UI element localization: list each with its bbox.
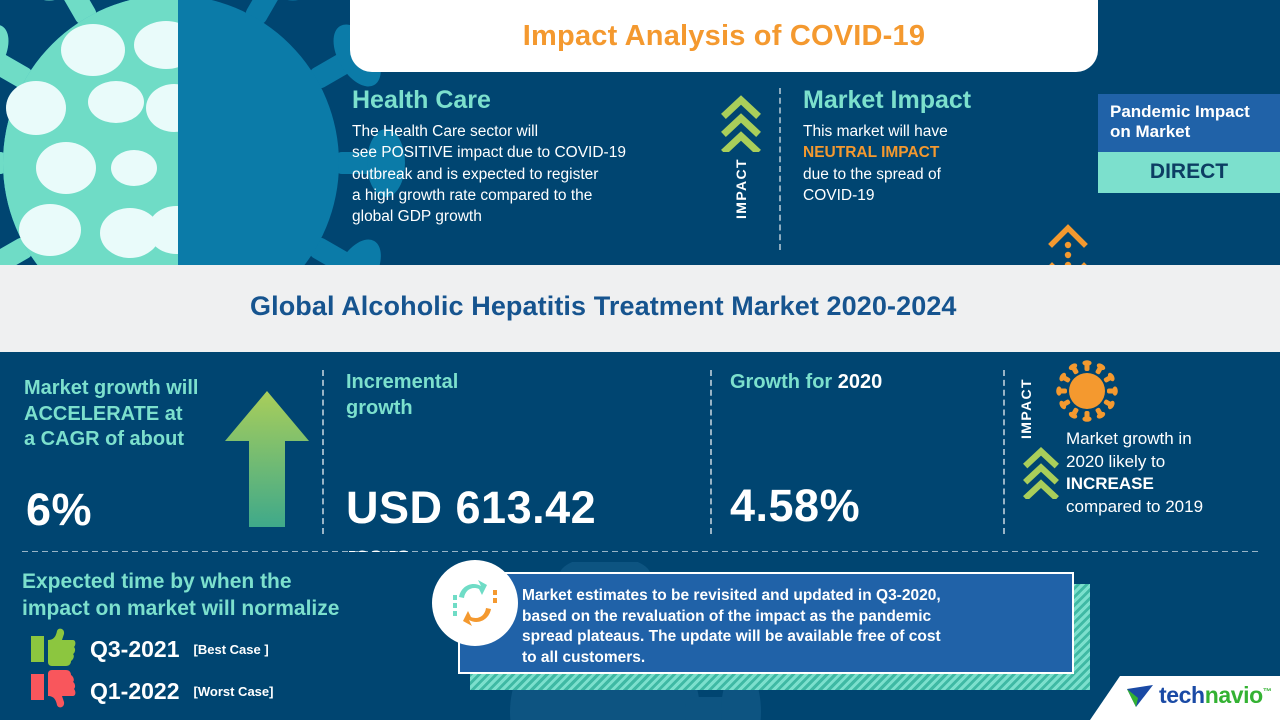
stats-divider-3 [1003,370,1005,534]
logo-content: technavio™ [1126,682,1271,709]
impact-label-top: IMPACT [733,158,749,219]
growth-2020-label-prefix: Growth for [730,371,838,393]
market-impact-body: This market will have NEUTRAL IMPACT due… [803,121,1028,207]
growth-2020-cell: Growth for 2020 4.58% [730,370,1000,396]
impact-rail-top: IMPACT [718,94,764,219]
pandemic-impact-title-line1: Pandemic Impact [1110,102,1270,122]
growth-2020-label-year: 2020 [838,371,883,393]
worst-case-tag: [Worst Case] [194,684,274,699]
note-box: Market estimates to be revisited and upd… [458,572,1074,674]
mi-line-3: due to the spread of [803,164,1028,185]
cagr-label-line2: ACCELERATE at [24,402,254,428]
hc-line-4: a high growth rate compared to the [352,185,704,206]
infographic-root: Impact Analysis of COVID-19 Health Care … [0,0,1280,720]
mi-accent: NEUTRAL IMPACT [803,142,1028,163]
technavio-mark-icon [1126,683,1154,709]
impact-2020-line1: Market growth in [1066,428,1280,451]
impact-2020-line2: 2020 likely to [1066,451,1280,474]
best-case-tag: [Best Case ] [194,642,269,657]
pandemic-impact-title-line2: on Market [1110,122,1270,142]
mi-line-1: This market will have [803,121,1028,142]
best-case-quarter: Q3-2021 [90,636,180,663]
inc-label-line2: growth [346,396,646,422]
normalize-heading: Expected time by when the impact on mark… [22,568,422,623]
market-impact-block: Market Impact This market will have NEUT… [803,86,1028,206]
cagr-cell: Market growth will ACCELERATE at a CAGR … [24,376,254,453]
market-impact-heading: Market Impact [803,86,1028,115]
growth-2020-value: 4.58% [730,480,860,532]
hc-line-1: The Health Care sector will [352,121,704,142]
virus-orange-icon [1056,360,1118,427]
impact-2020-text: Market growth in 2020 likely to INCREASE… [1066,428,1280,518]
logo-text-b: navio [1205,682,1263,708]
pandemic-impact-value: DIRECT [1098,152,1280,193]
incremental-growth-cell: Incremental growth USD 613.42 mn [346,370,646,421]
page-title: Impact Analysis of COVID-19 [523,20,925,53]
note-line-1: Market estimates to be revisited and upd… [522,586,1060,607]
normalize-heading-line1: Expected time by when the [22,568,422,595]
incremental-growth-label: Incremental growth [346,370,646,421]
thumbs-down-icon [30,670,76,713]
logo-text: technavio™ [1159,682,1271,709]
pandemic-impact-box: Pandemic Impact on Market DIRECT [1098,94,1280,193]
top-info-row: Health Care The Health Care sector will … [0,72,1280,265]
hc-line-5: global GDP growth [352,206,704,227]
mi-line-4: COVID-19 [803,185,1028,206]
growth-2020-label: Growth for 2020 [730,370,1000,396]
pandemic-impact-title: Pandemic Impact on Market [1098,94,1280,152]
cagr-label: Market growth will ACCELERATE at a CAGR … [24,376,254,453]
cagr-label-line1: Market growth will [24,376,254,402]
health-care-heading: Health Care [352,86,704,115]
stats-divider-1 [322,370,324,534]
note-line-4: to all customers. [522,648,1060,669]
chevron-up-stack-icon [718,94,764,152]
top-vertical-divider [779,88,781,250]
impact-label-bottom: IMPACT [1018,378,1034,439]
note-text: Market estimates to be revisited and upd… [522,586,1060,668]
impact-2020-line3: INCREASE [1066,473,1280,496]
up-arrow-icon [222,387,312,532]
logo-text-a: tech [1159,682,1205,708]
technavio-logo: technavio™ [1090,676,1280,720]
health-care-body: The Health Care sector will see POSITIVE… [352,121,704,228]
refresh-cycle-icon [432,560,518,646]
impact-2020-line4: compared to 2019 [1066,496,1280,519]
report-title: Global Alcoholic Hepatitis Treatment Mar… [250,291,957,322]
chevron-up-stack-icon-2 [1018,445,1064,504]
hc-line-3: outbreak and is expected to register [352,164,704,185]
health-care-block: Health Care The Health Care sector will … [352,86,704,228]
worst-case-quarter: Q1-2022 [90,678,180,705]
bottom-row: Expected time by when the impact on mark… [0,552,1280,720]
stats-divider-2 [710,370,712,534]
cagr-label-line3: a CAGR of about [24,427,254,453]
report-title-band: Global Alcoholic Hepatitis Treatment Mar… [0,265,1280,352]
note-line-2: based on the revaluation of the impact a… [522,607,1060,628]
thumbs-up-icon [30,628,76,671]
hc-line-2: see POSITIVE impact due to COVID-19 [352,142,704,163]
note-callout: Market estimates to be revisited and upd… [458,572,1086,690]
logo-tm: ™ [1263,686,1272,696]
worst-case-row: Q1-2022 [Worst Case] [30,670,273,713]
best-case-row: Q3-2021 [Best Case ] [30,628,269,671]
normalize-heading-line2: impact on market will normalize [22,595,422,622]
inc-label-line1: Incremental [346,370,646,396]
cagr-value: 6% [26,484,92,536]
header-banner: Impact Analysis of COVID-19 [350,0,1098,72]
note-line-3: spread plateaus. The update will be avai… [522,627,1060,648]
